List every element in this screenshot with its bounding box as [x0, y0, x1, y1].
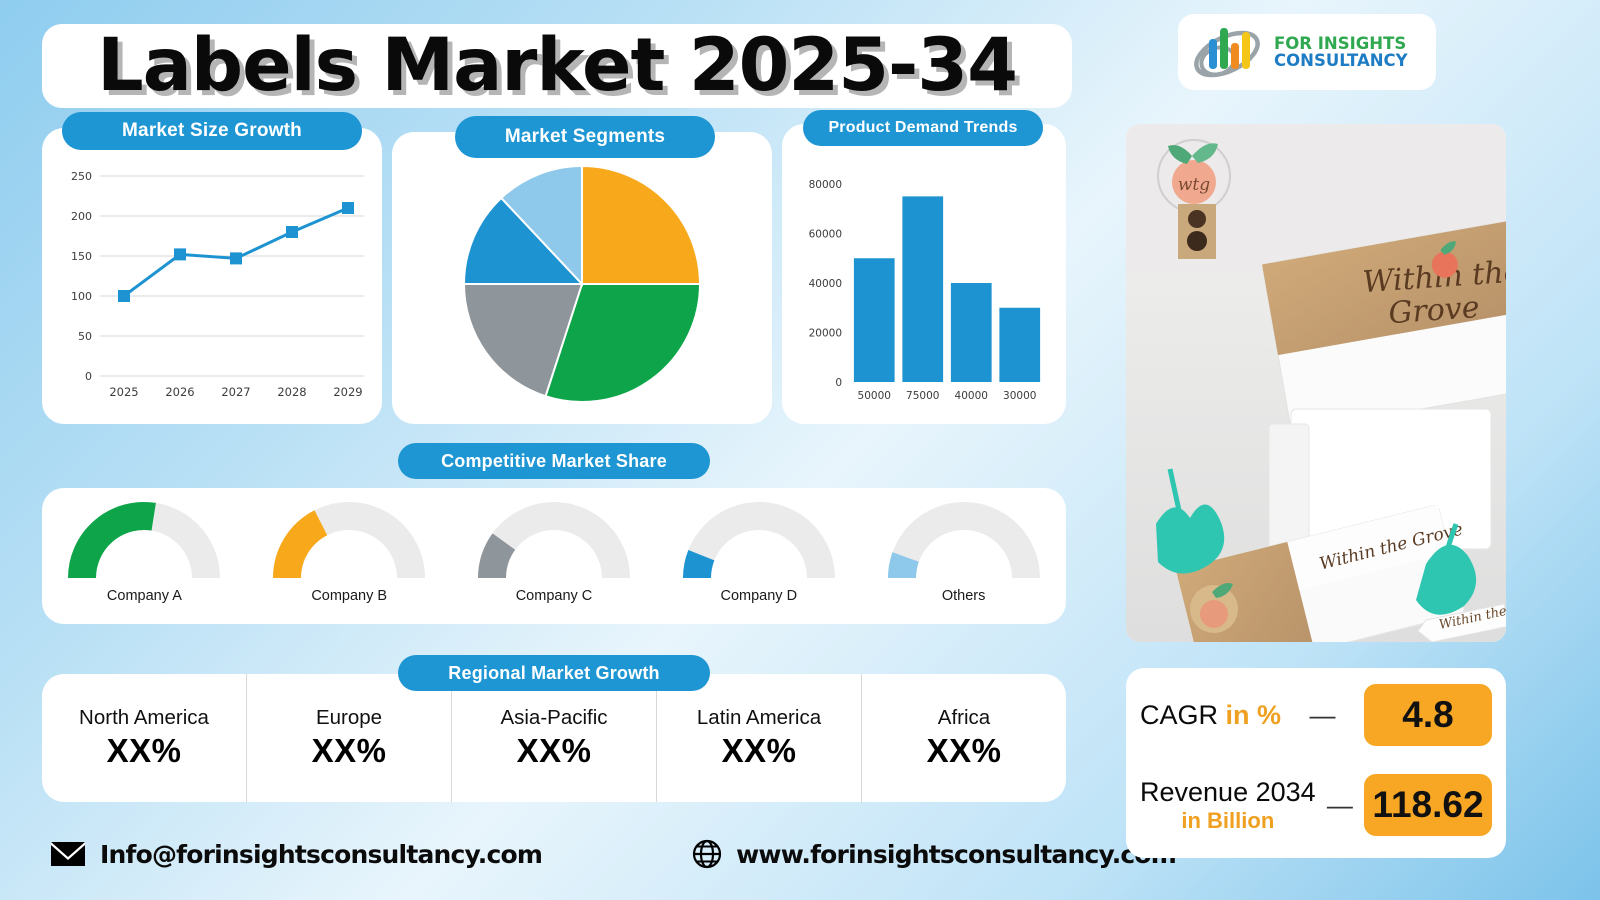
- x-tick-label: 75000: [906, 390, 939, 402]
- logo-card[interactable]: FOR INSIGHTS CONSULTANCY: [1178, 14, 1436, 90]
- y-tick-label: 20000: [809, 328, 842, 340]
- gauge-value-arc: [287, 523, 321, 578]
- footer-email[interactable]: Info@forinsightsconsultancy.com: [50, 840, 542, 869]
- region-name: Latin America: [697, 706, 821, 730]
- x-tick-label: 2026: [165, 385, 194, 399]
- line-series: [124, 208, 348, 296]
- gauge-row: Company ACompany BCompany CCompany DOthe…: [42, 488, 1066, 624]
- gauge-company-c: Company C: [452, 498, 657, 604]
- revenue-label-text: Revenue 2034: [1140, 777, 1316, 807]
- envelope-icon: [50, 841, 86, 867]
- competitive-share-card: Company ACompany BCompany CCompany DOthe…: [42, 488, 1066, 624]
- gauge-track: [697, 516, 821, 578]
- regional-growth-card: North AmericaXX%EuropeXX%Asia-PacificXX%…: [42, 674, 1066, 802]
- product-demand-bar-chart: 0200004000060000800005000075000400003000…: [782, 124, 1066, 424]
- svg-text:Grove: Grove: [1387, 290, 1480, 331]
- y-tick-label: 50: [78, 330, 92, 343]
- region-name: Asia-Pacific: [500, 706, 607, 730]
- gauge-others: Others: [861, 498, 1066, 604]
- revenue-label: Revenue 2034 in Billion: [1140, 777, 1316, 834]
- bar: [999, 308, 1040, 382]
- svg-text:wtg: wtg: [1178, 175, 1210, 195]
- gauge-value-arc: [902, 557, 906, 578]
- x-tick-label: 40000: [955, 390, 988, 402]
- bar-chart-orbit-logo-icon: [1188, 21, 1266, 83]
- y-tick-label: 100: [71, 290, 92, 303]
- market-size-line-chart: 05010015020025020252026202720282029: [42, 128, 382, 424]
- y-tick-label: 0: [85, 370, 92, 383]
- x-tick-label: 50000: [858, 390, 891, 402]
- y-tick-label: 40000: [809, 278, 842, 290]
- market-segments-chart-card: [392, 132, 772, 424]
- logo-text: FOR INSIGHTS CONSULTANCY: [1274, 35, 1408, 70]
- gauge-arc: [268, 498, 430, 582]
- gauge-arc: [883, 498, 1045, 582]
- region-name: Africa: [938, 706, 990, 730]
- footer: Info@forinsightsconsultancy.com www.fori…: [42, 826, 1082, 882]
- y-tick-label: 60000: [809, 229, 842, 241]
- y-tick-label: 150: [71, 250, 92, 263]
- cagr-label-text: CAGR: [1140, 700, 1218, 730]
- footer-website-text: www.forinsightsconsultancy.com: [736, 840, 1176, 869]
- x-tick-label: 2028: [277, 385, 306, 399]
- kpi-row-revenue: Revenue 2034 in Billion — 118.62: [1126, 774, 1506, 836]
- market-size-chart-card: 05010015020025020252026202720282029: [42, 128, 382, 424]
- badge-product-demand-trends: Product Demand Trends: [803, 110, 1043, 146]
- page-title: Labels Market 2025-34: [42, 18, 1072, 114]
- region-cell: North AmericaXX%: [42, 674, 247, 802]
- badge-regional-market-growth: Regional Market Growth: [398, 655, 710, 691]
- cagr-label-accent: in %: [1226, 700, 1282, 730]
- gauge-arc: [678, 498, 840, 582]
- cagr-value: 4.8: [1364, 684, 1492, 746]
- region-value: XX%: [517, 732, 592, 770]
- gauge-value-arc: [697, 555, 701, 578]
- region-cell: EuropeXX%: [247, 674, 452, 802]
- region-row: North AmericaXX%EuropeXX%Asia-PacificXX%…: [42, 674, 1066, 802]
- x-tick-label: 2029: [333, 385, 362, 399]
- data-point-marker: [118, 290, 130, 302]
- data-point-marker: [286, 226, 298, 238]
- product-demand-chart-card: 0200004000060000800005000075000400003000…: [782, 124, 1066, 424]
- gauge-company-d: Company D: [656, 498, 861, 604]
- region-value: XX%: [722, 732, 797, 770]
- globe-icon: [692, 839, 722, 869]
- region-value: XX%: [927, 732, 1002, 770]
- data-point-marker: [174, 248, 186, 260]
- bar: [854, 258, 895, 382]
- cagr-dash: —: [1281, 700, 1364, 731]
- y-tick-label: 80000: [809, 179, 842, 191]
- gauge-label: Company A: [107, 588, 182, 604]
- region-cell: AfricaXX%: [862, 674, 1066, 802]
- data-point-marker: [342, 202, 354, 214]
- cagr-label: CAGR in %: [1140, 700, 1281, 731]
- region-name: North America: [79, 706, 209, 730]
- revenue-dash: —: [1316, 790, 1364, 821]
- region-cell: Asia-PacificXX%: [452, 674, 657, 802]
- pie-slice: [582, 166, 700, 284]
- footer-website[interactable]: www.forinsightsconsultancy.com: [692, 839, 1176, 869]
- x-tick-label: 2027: [221, 385, 250, 399]
- y-tick-label: 0: [835, 377, 842, 389]
- gauge-company-a: Company A: [42, 498, 247, 604]
- region-value: XX%: [107, 732, 182, 770]
- data-point-marker: [230, 252, 242, 264]
- y-tick-label: 250: [71, 170, 92, 183]
- badge-competitive-market-share: Competitive Market Share: [398, 443, 710, 479]
- gauge-track: [902, 516, 1026, 578]
- x-tick-label: 30000: [1003, 390, 1036, 402]
- revenue-label-sub: in Billion: [1140, 808, 1316, 834]
- region-cell: Latin AmericaXX%: [657, 674, 862, 802]
- badge-market-size-growth: Market Size Growth: [62, 112, 362, 150]
- gauge-company-b: Company B: [247, 498, 452, 604]
- x-tick-label: 2025: [109, 385, 138, 399]
- kpi-row-cagr: CAGR in % — 4.8: [1126, 684, 1506, 746]
- gauge-value-arc: [82, 516, 154, 578]
- badge-market-segments: Market Segments: [455, 116, 715, 158]
- product-photo: wtg Within the Grove Within the Grove: [1126, 124, 1506, 642]
- logo-line-1: FOR INSIGHTS: [1274, 35, 1408, 52]
- gauge-label: Company D: [721, 588, 798, 604]
- region-value: XX%: [312, 732, 387, 770]
- region-name: Europe: [316, 706, 382, 730]
- gauge-value-arc: [492, 542, 504, 578]
- gauge-label: Company C: [516, 588, 593, 604]
- y-tick-label: 200: [71, 210, 92, 223]
- logo-line-2: CONSULTANCY: [1274, 52, 1408, 69]
- footer-email-text: Info@forinsightsconsultancy.com: [100, 840, 542, 869]
- bar: [951, 283, 992, 382]
- market-segments-pie-chart: [392, 132, 772, 424]
- product-photo-illustration: wtg Within the Grove Within the Grove: [1126, 124, 1506, 642]
- gauge-label: Company B: [311, 588, 387, 604]
- gauge-arc: [473, 498, 635, 582]
- bar: [902, 196, 943, 382]
- kpi-card: CAGR in % — 4.8 Revenue 2034 in Billion …: [1126, 668, 1506, 858]
- gauge-arc: [63, 498, 225, 582]
- gauge-label: Others: [942, 588, 986, 604]
- revenue-value: 118.62: [1364, 774, 1492, 836]
